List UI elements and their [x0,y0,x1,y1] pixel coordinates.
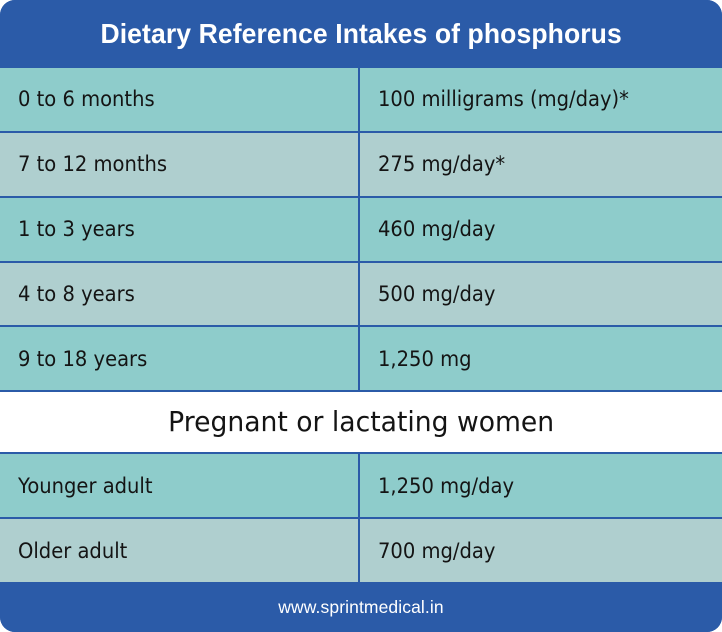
card-header: Dietary Reference Intakes of phosphorus [0,0,722,68]
table-cell-intake: 1,250 mg/day [360,454,722,517]
table-cell-age-group: Older adult [0,519,360,582]
intake-value: 500 mg/day [378,282,495,306]
table-row: Older adult 700 mg/day [0,519,722,582]
table-row: Younger adult 1,250 mg/day [0,454,722,519]
page-title: Dietary Reference Intakes of phosphorus [100,18,621,50]
table-cell-age-group: 1 to 3 years [0,198,360,261]
age-group-label: Older adult [18,539,127,563]
table-cell-section: Pregnant or lactating women [0,392,722,452]
table-row: 7 to 12 months 275 mg/day* [0,133,722,198]
intake-value: 100 milligrams (mg/day)* [378,87,629,111]
intake-value: 1,250 mg/day [378,474,514,498]
age-group-label: 0 to 6 months [18,87,155,111]
intake-value: 275 mg/day* [378,152,505,176]
table-cell-age-group: 0 to 6 months [0,68,360,131]
infographic-card: Dietary Reference Intakes of phosphorus … [0,0,722,632]
age-group-label: Younger adult [18,474,153,498]
table-row: 0 to 6 months 100 milligrams (mg/day)* [0,68,722,133]
intake-value: 700 mg/day [378,539,495,563]
table-row: 4 to 8 years 500 mg/day [0,263,722,328]
table-cell-intake: 100 milligrams (mg/day)* [360,68,722,131]
age-group-label: 7 to 12 months [18,152,167,176]
age-group-label: 9 to 18 years [18,347,147,371]
card-footer: www.sprintmedical.in [0,582,722,632]
age-group-label: 1 to 3 years [18,217,135,241]
table-cell-age-group: 9 to 18 years [0,327,360,390]
intake-value: 1,250 mg [378,347,472,371]
table-row: 1 to 3 years 460 mg/day [0,198,722,263]
table-cell-intake: 460 mg/day [360,198,722,261]
table-cell-age-group: Younger adult [0,454,360,517]
table-cell-age-group: 7 to 12 months [0,133,360,196]
website-link[interactable]: www.sprintmedical.in [278,597,443,618]
table-cell-intake: 275 mg/day* [360,133,722,196]
dri-table: 0 to 6 months 100 milligrams (mg/day)* 7… [0,68,722,582]
table-cell-intake: 1,250 mg [360,327,722,390]
section-label: Pregnant or lactating women [168,406,554,438]
table-cell-intake: 700 mg/day [360,519,722,582]
age-group-label: 4 to 8 years [18,282,135,306]
table-row: 9 to 18 years 1,250 mg [0,327,722,392]
table-cell-intake: 500 mg/day [360,263,722,326]
table-section-header-row: Pregnant or lactating women [0,392,722,454]
table-cell-age-group: 4 to 8 years [0,263,360,326]
intake-value: 460 mg/day [378,217,495,241]
